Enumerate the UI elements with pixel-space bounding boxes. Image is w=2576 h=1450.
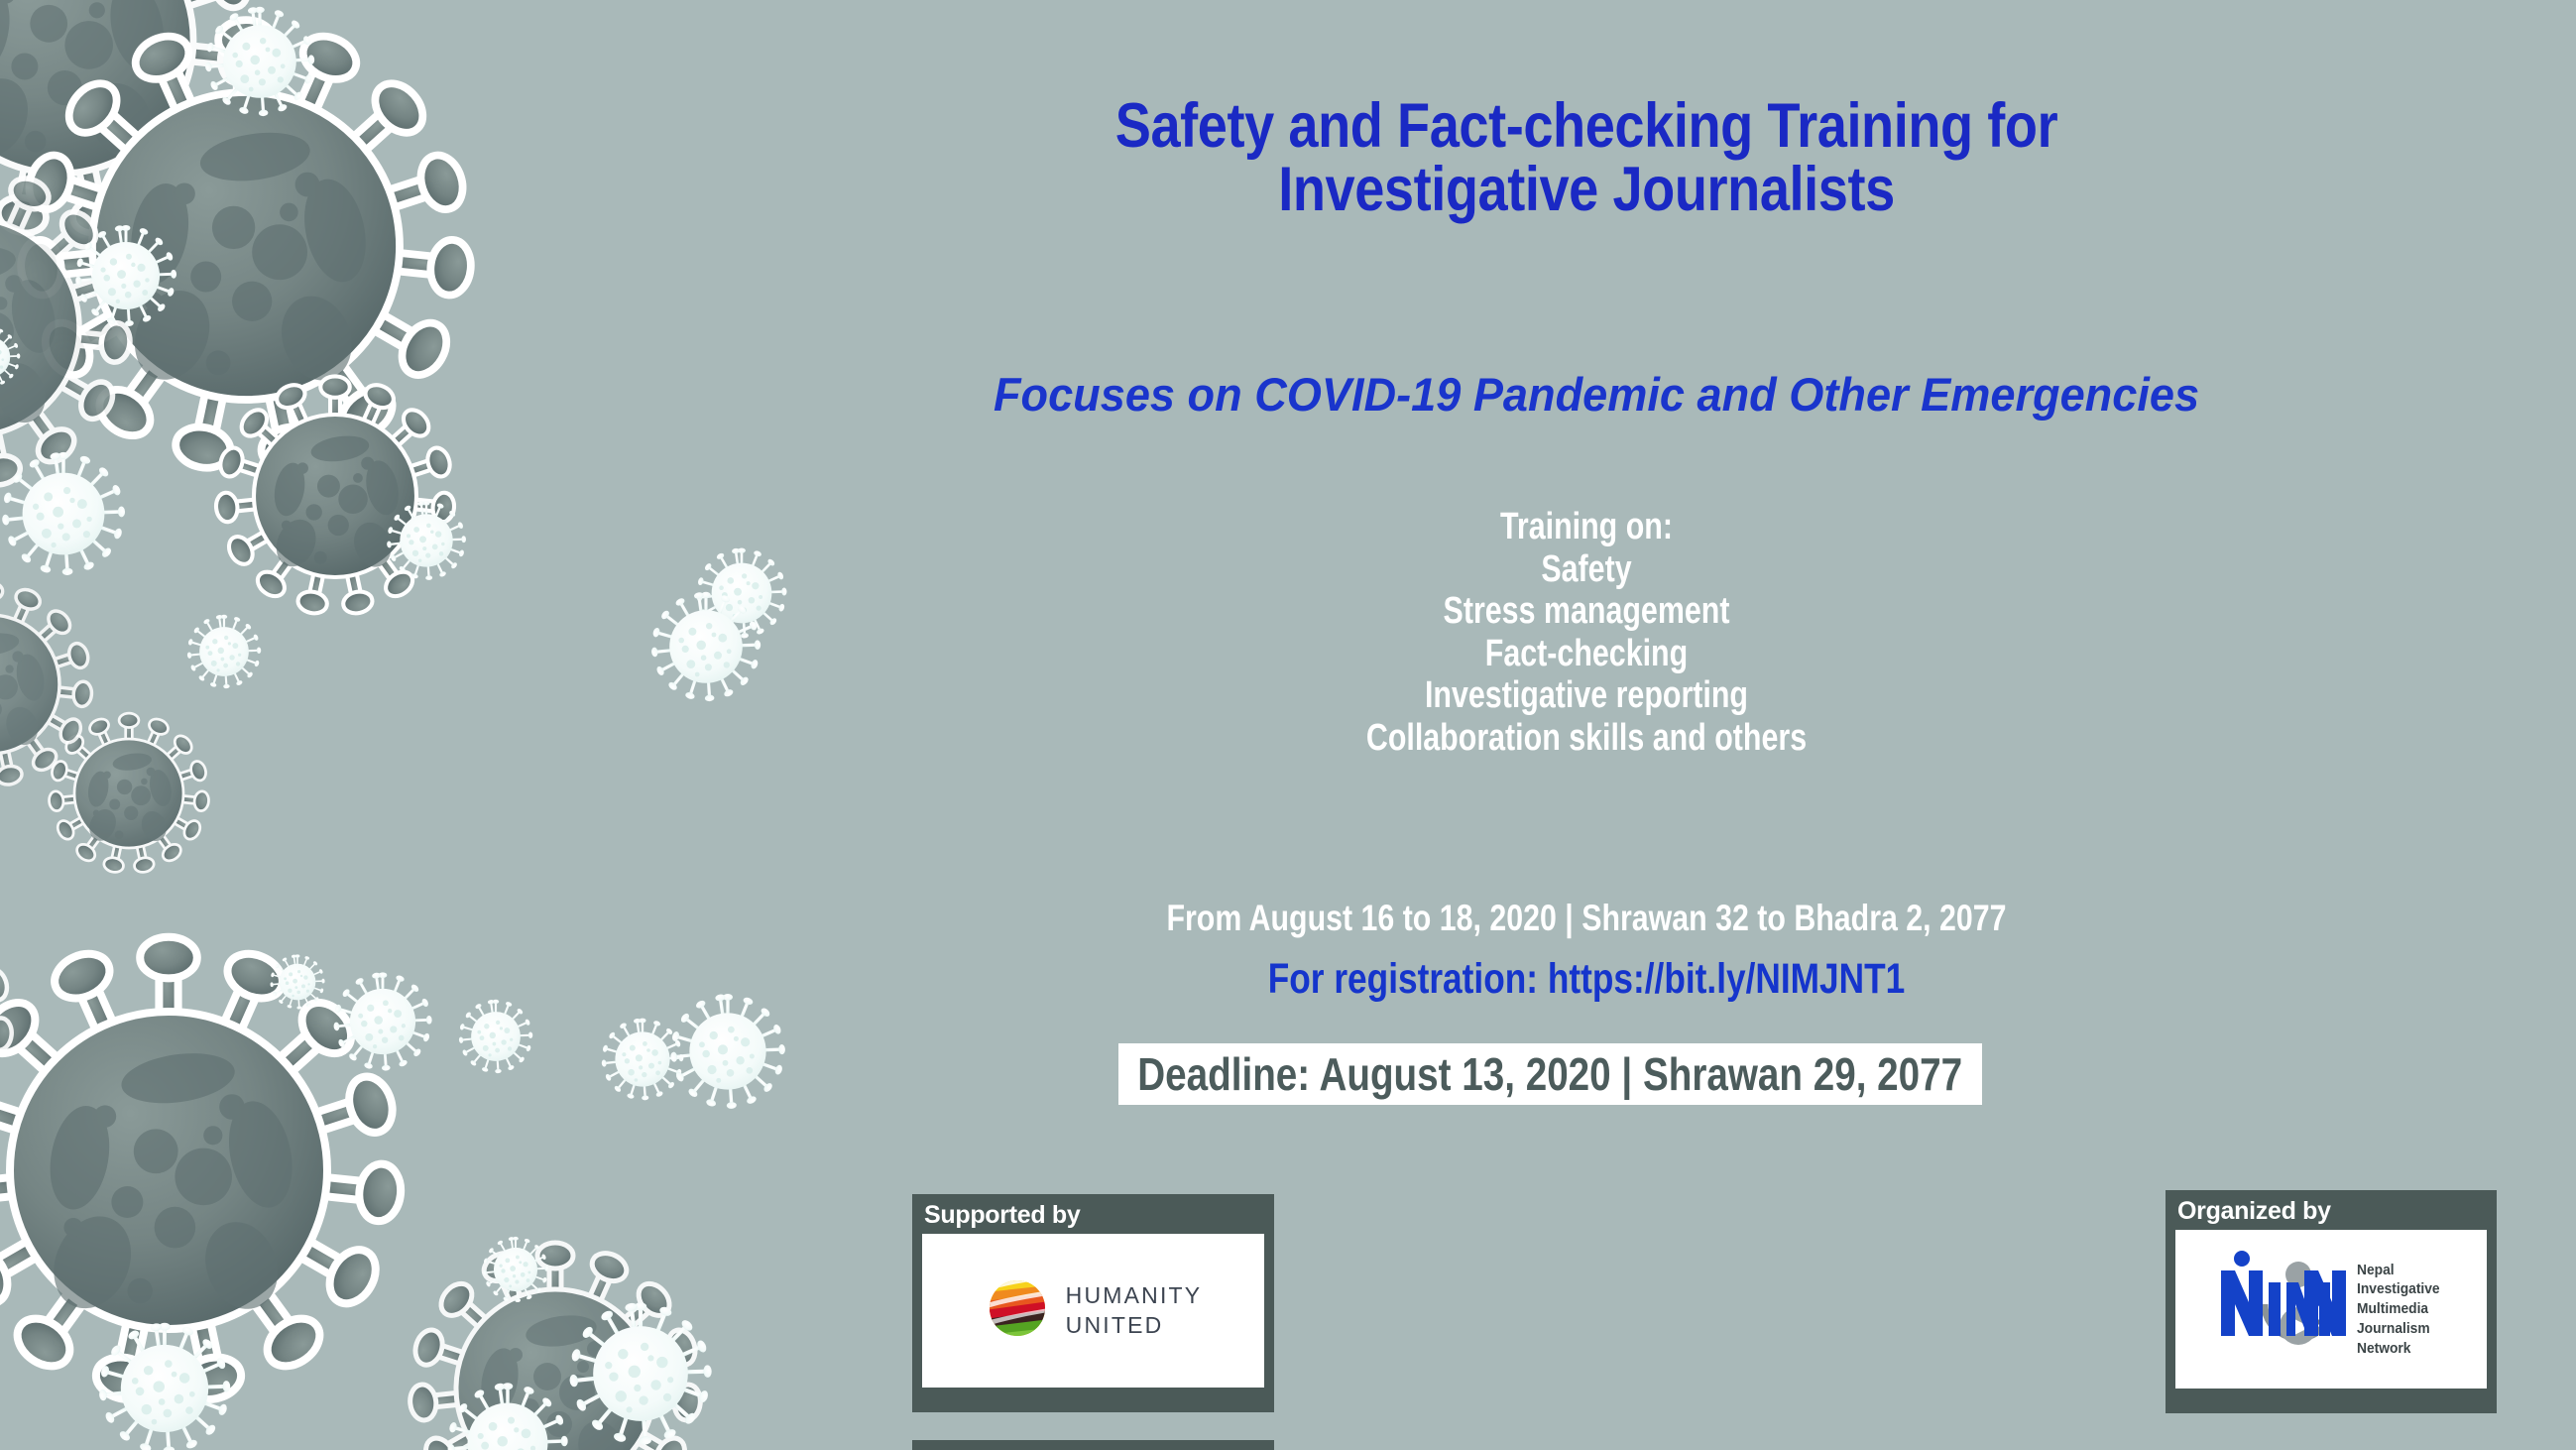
nimjn-tagline-line-5: Network	[2357, 1340, 2410, 1357]
page-title: Safety and Fact-checking Training for In…	[892, 94, 2281, 222]
organized-by-label: Organized by	[2166, 1190, 2497, 1230]
training-topics-block: Training on: Safety Stress management Fa…	[892, 506, 2281, 759]
training-item-stress-management: Stress management	[1031, 590, 2142, 633]
supported-by-box: Supported by	[912, 1194, 1274, 1412]
humanity-united-sphere-icon	[985, 1275, 1050, 1346]
training-item-investigative-reporting: Investigative reporting	[1031, 674, 2142, 717]
deadline-text: Deadline: August 13, 2020 | Shrawan 29, …	[1138, 1047, 1963, 1101]
deadline-badge: Deadline: August 13, 2020 | Shrawan 29, …	[1118, 1043, 1982, 1105]
supported-by-label: Supported by	[912, 1194, 1274, 1234]
nimjn-tagline-line-2: Investigative	[2357, 1280, 2440, 1297]
title-line-1: Safety and Fact-checking Training for	[990, 94, 2183, 158]
poster-canvas: Safety and Fact-checking Training for In…	[0, 0, 2576, 1450]
humanity-united-wordmark: HUMANITY UNITED	[1066, 1281, 1203, 1340]
nimjn-tagline: Nepal Investigative Multimedia Journalis…	[2357, 1261, 2440, 1359]
nimjn-tagline-line-1: Nepal	[2357, 1262, 2395, 1278]
nimjn-tagline-line-3: Multimedia	[2357, 1300, 2428, 1317]
subtitle: Focuses on COVID-19 Pandemic and Other E…	[882, 367, 2310, 422]
organized-by-box: Organized by	[2166, 1190, 2497, 1413]
humanity-united-line-2: UNITED	[1066, 1312, 1164, 1338]
supported-by-logo-panel: HUMANITY UNITED	[922, 1234, 1264, 1388]
nimjn-tagline-line-4: Journalism	[2357, 1320, 2430, 1337]
humanity-united-line-1: HUMANITY	[1066, 1282, 1203, 1308]
registration-link[interactable]: For registration: https://bit.ly/NIMJNT1	[1017, 955, 2156, 1004]
organized-by-logo-panel: Nepal Investigative Multimedia Journalis…	[2175, 1230, 2487, 1389]
training-item-safety: Safety	[1031, 548, 2142, 591]
training-heading: Training on:	[1031, 506, 2142, 548]
event-dates: From August 16 to 18, 2020 | Shrawan 32 …	[1017, 898, 2156, 939]
training-item-collaboration-skills: Collaboration skills and others	[1031, 717, 2142, 760]
partial-logo-box-bottom	[912, 1440, 1274, 1450]
nimjn-mark-icon	[2215, 1249, 2350, 1371]
training-item-fact-checking: Fact-checking	[1031, 633, 2142, 675]
title-line-2: Investigative Journalists	[990, 158, 2183, 221]
coronavirus-background-artwork	[0, 0, 793, 1450]
